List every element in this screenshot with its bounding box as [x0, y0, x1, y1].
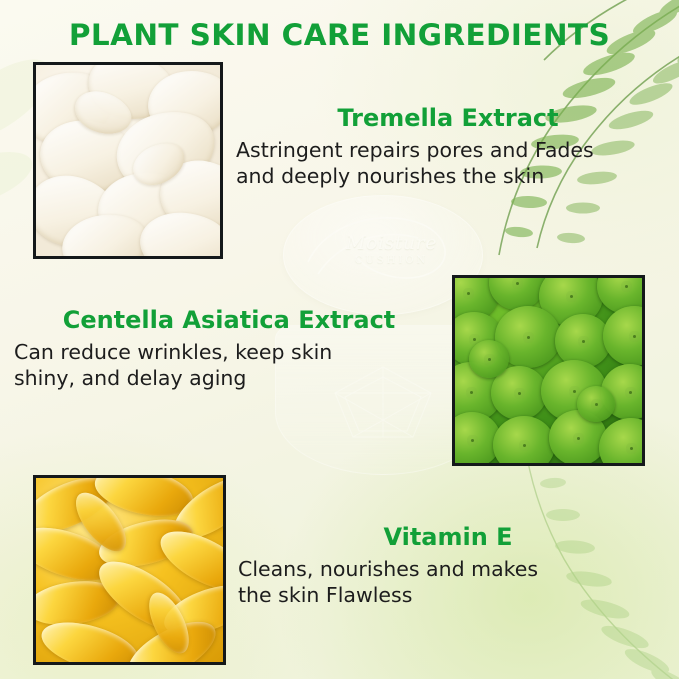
vitamin-e-description: Cleans, nourishes and makes the skin Fla… [238, 556, 658, 608]
page-title: PLANT SKIN CARE INGREDIENTS [0, 18, 679, 52]
tremella-text-block: Tremella Extract Astringent repairs pore… [236, 105, 660, 189]
centella-description: Can reduce wrinkles, keep skin shiny, an… [14, 339, 444, 391]
ingredients-infographic: Moisture CUSHION PLANT SKIN CARE INGREDI… [0, 0, 679, 679]
vitamin-e-heading: Vitamin E [238, 524, 658, 552]
tremella-heading: Tremella Extract [236, 105, 660, 133]
centella-photo [452, 275, 645, 466]
vitamin-e-photo [33, 475, 226, 665]
centella-heading: Centella Asiatica Extract [14, 307, 444, 335]
tremella-photo [33, 62, 223, 259]
tremella-description: Astringent repairs pores and Fades and d… [236, 137, 660, 189]
vitamin-e-text-block: Vitamin E Cleans, nourishes and makes th… [238, 524, 658, 608]
centella-text-block: Centella Asiatica Extract Can reduce wri… [14, 307, 444, 391]
